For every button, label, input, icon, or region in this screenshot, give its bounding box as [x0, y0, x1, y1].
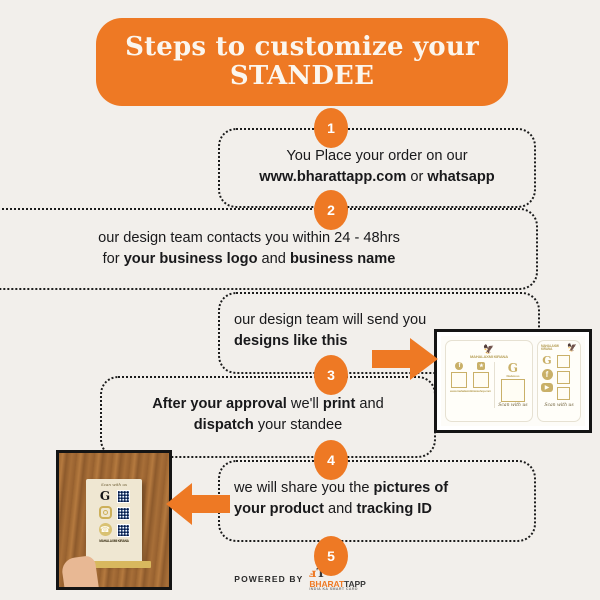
google-g-icon: G [542, 355, 551, 366]
photo-script-header: Scan with us [86, 482, 142, 487]
product-photo-image: Scan with us G ☎ MAHALAXMI KIRANA [56, 450, 172, 590]
step-5-pictures: pictures of [374, 480, 449, 496]
design-card-tall: MAHALAXMI KIRANA 🦅 G f ▶ Scan with [537, 340, 581, 422]
step-1-line1: You Place your order on our [286, 148, 467, 164]
facebook-icon: f [542, 369, 553, 380]
step-badge-3: 3 [314, 355, 348, 395]
design-script-note: Scan with us [498, 403, 527, 408]
step-badge-2: 2 [314, 190, 348, 230]
wings-logo-icon: 🦅 [567, 344, 577, 352]
qr-placeholder [557, 371, 570, 384]
step-1-conj: or [406, 169, 427, 185]
step-2-line2-pre: for [103, 251, 124, 267]
step-badge-3-number: 3 [327, 367, 335, 383]
standee-board: Scan with us G ☎ MAHALAXMI KIRANA [86, 479, 142, 563]
page-title-line1: Steps to customize your [125, 32, 479, 62]
step-badge-1: 1 [314, 108, 348, 148]
step-4-box: After your approval we'll print and disp… [100, 376, 436, 458]
step-badge-4: 4 [314, 440, 348, 480]
design-big-caption: Review us [506, 375, 519, 378]
arrow-left-to-photo [166, 483, 230, 525]
design-card-wide: 🦅 MAHALAXMI KIRANA f ★ www.mahalaxmikira [445, 340, 533, 422]
instagram-icon [99, 506, 112, 519]
google-review-icon: ★ [477, 362, 485, 370]
qr-code [117, 490, 130, 503]
qr-code [117, 524, 130, 537]
wings-logo-icon: 🦅 [483, 345, 494, 354]
facebook-icon: f [455, 362, 463, 370]
brand-tagline: INDIA KA SMART CARD [309, 588, 365, 592]
qr-placeholder [557, 355, 570, 368]
hand [61, 555, 100, 590]
design-brand-label: MAHALAXMI KIRANA [541, 345, 567, 351]
design-brand-label: MAHALAXMI KIRANA [450, 355, 528, 359]
step-badge-2-number: 2 [327, 202, 335, 218]
qr-placeholder [451, 372, 467, 388]
qr-code [117, 507, 130, 520]
step-badge-4-number: 4 [327, 452, 335, 468]
step-1-whatsapp: whatsapp [427, 169, 494, 185]
step-1-text: You Place your order on our www.bharatta… [220, 146, 534, 188]
step-4-text: After your approval we'll print and disp… [102, 394, 434, 436]
step-2-conj: and [257, 251, 289, 267]
step-1-website[interactable]: www.bharattapp.com [259, 169, 406, 185]
step-5-text: we will share you the pictures of your p… [220, 478, 448, 520]
step-4-end: and [355, 396, 383, 412]
page-title-banner: Steps to customize your STANDEE [96, 18, 508, 106]
infographic-root: Steps to customize your STANDEE You Plac… [0, 0, 600, 600]
page-title: Steps to customize your STANDEE [107, 33, 497, 92]
step-3-line2: designs like this [234, 333, 348, 349]
step-4-line2-end: your standee [254, 417, 342, 433]
qr-placeholder [557, 387, 570, 400]
step-1-box: You Place your order on our www.bharatta… [218, 128, 536, 208]
photo-brand-label: MAHALAXMI KIRANA [86, 540, 142, 543]
youtube-icon: ▶ [541, 383, 553, 392]
step-4-approval: After your approval [152, 396, 287, 412]
page-title-line2: STANDEE [125, 62, 479, 91]
powered-by-label: POWERED BY [234, 574, 303, 584]
step-2-name: business name [290, 251, 395, 267]
step-5-tracking: tracking ID [356, 501, 431, 517]
google-g-icon: G [99, 490, 112, 502]
step-badge-5-number: 5 [327, 548, 335, 564]
design-script-note: Scan with us [541, 403, 577, 408]
step-5-conj: and [324, 501, 356, 517]
step-4-print: print [323, 396, 355, 412]
qr-placeholder [501, 379, 525, 402]
step-5-product: your product [234, 501, 324, 517]
step-2-text: our design team contacts you within 24 -… [0, 228, 536, 270]
step-badge-5: 5 [314, 536, 348, 576]
design-footer-url: www.mahalaxmikiranashop.com [450, 390, 491, 393]
step-2-logo: your business logo [124, 251, 258, 267]
step-badge-1-number: 1 [327, 120, 335, 136]
design-mockup-image: 🦅 MAHALAXMI KIRANA f ★ www.mahalaxmikira [434, 329, 592, 433]
google-g-icon: G [508, 362, 518, 374]
step-2-box: our design team contacts you within 24 -… [0, 208, 538, 290]
step-2-line1: our design team contacts you within 24 -… [98, 230, 400, 246]
step-5-box: we will share you the pictures of your p… [218, 460, 536, 542]
step-4-mid: we'll [287, 396, 323, 412]
step-4-dispatch: dispatch [194, 417, 254, 433]
step-5-pre: we will share you the [234, 480, 374, 496]
design-mockup-inner: 🦅 MAHALAXMI KIRANA f ★ www.mahalaxmikira [441, 336, 585, 426]
step-3-line1: our design team will send you [234, 312, 426, 328]
qr-placeholder [473, 372, 489, 388]
whatsapp-icon: ☎ [99, 523, 112, 536]
arrow-right-to-design [372, 338, 438, 380]
